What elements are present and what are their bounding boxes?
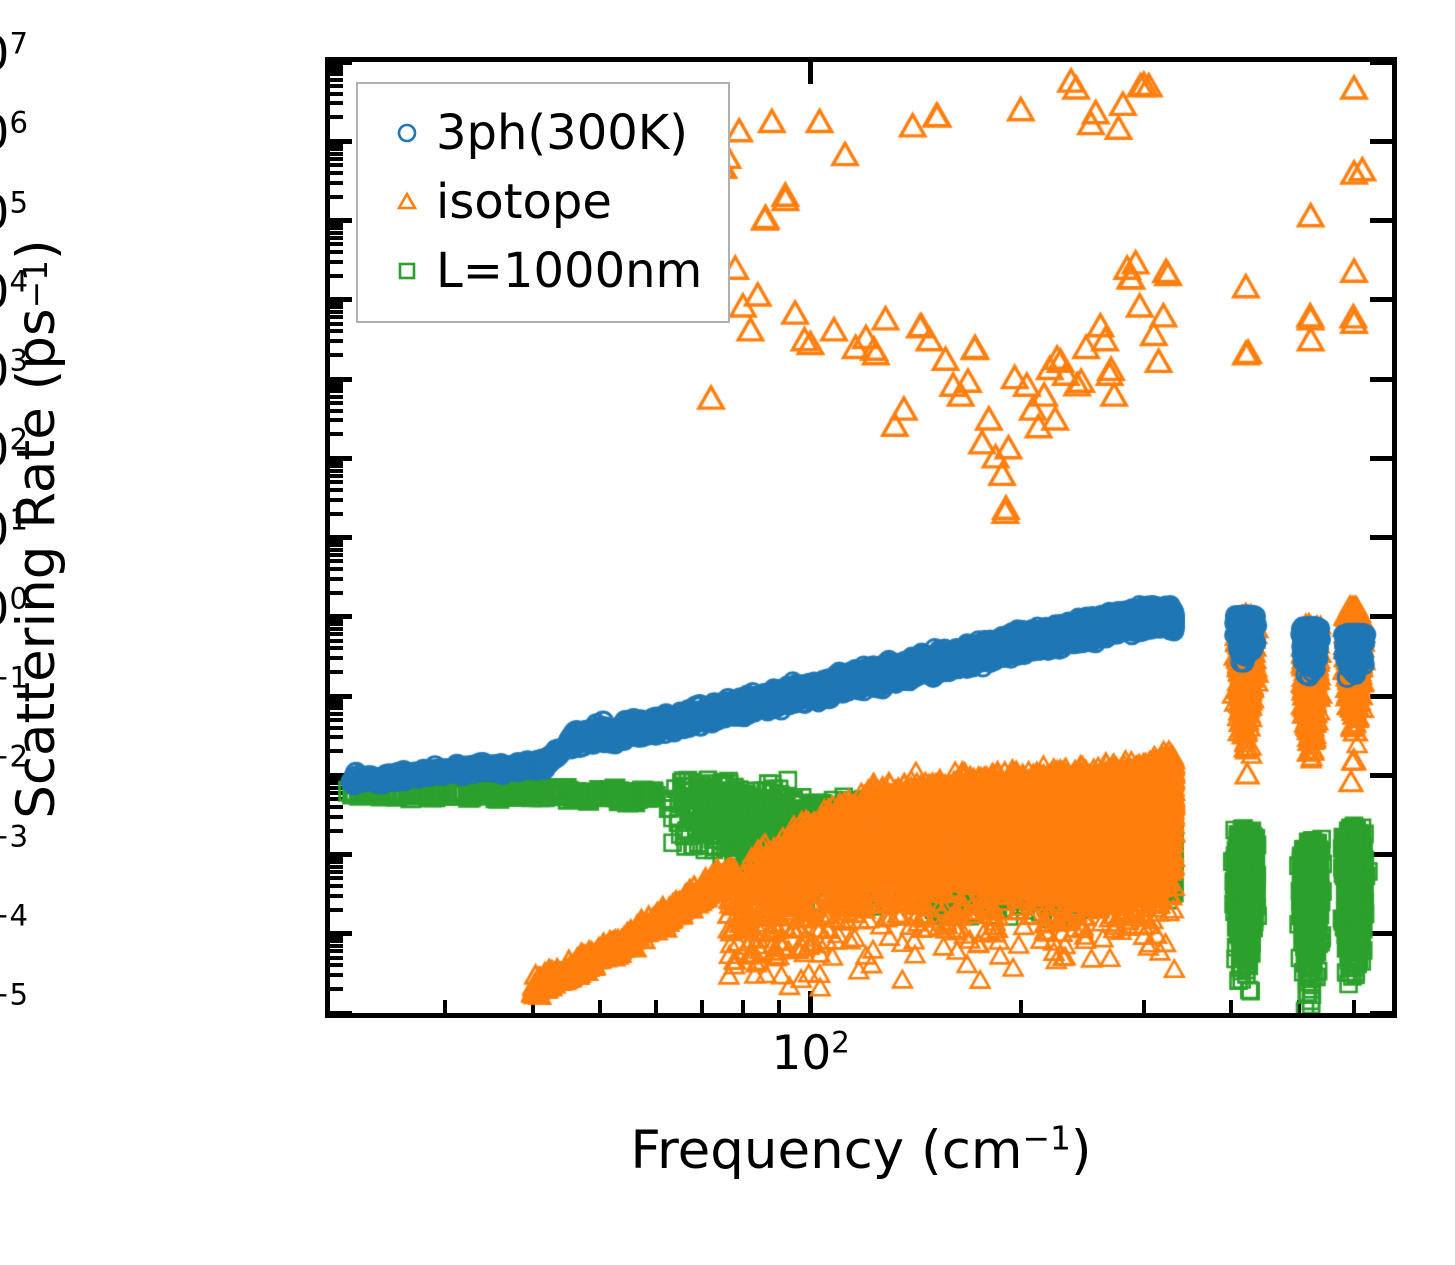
y-tick-label: 107 (0, 31, 28, 78)
y-tick-label: 104 (0, 269, 28, 316)
legend-label: 3ph(300K) (436, 109, 688, 157)
legend: 3ph(300K)isotopeL=1000nm (356, 82, 730, 323)
triangle-marker-icon (378, 189, 436, 215)
legend-label: isotope (436, 178, 612, 226)
y-tick-label: 105 (0, 190, 28, 237)
circle-marker-icon (378, 120, 436, 146)
legend-entry-isotope[interactable]: isotope (378, 167, 702, 236)
y-tick-label: 10−3 (0, 824, 28, 871)
y-tick-label: 10−5 (0, 982, 28, 1029)
x-tick-label: 102 (771, 1030, 849, 1077)
y-tick-label: 10−1 (0, 665, 28, 712)
x-axis-title-text: Frequency (cm (630, 1120, 1022, 1181)
y-tick-label: 10−4 (0, 903, 28, 950)
y-axis-title-tail: ) (6, 239, 67, 260)
y-tick-label: 103 (0, 348, 28, 395)
x-axis-title: Frequency (cm−1) (325, 1120, 1397, 1181)
legend-entry-l-1000nm[interactable]: L=1000nm (378, 236, 702, 305)
legend-entry-3ph-300k[interactable]: 3ph(300K) (378, 98, 702, 167)
legend-label: L=1000nm (436, 247, 702, 295)
y-tick-label: 10−2 (0, 744, 28, 791)
y-tick-label: 100 (0, 586, 28, 633)
square-marker-icon (378, 258, 436, 284)
x-axis-title-exponent: −1 (1022, 1118, 1070, 1157)
y-tick-label: 102 (0, 427, 28, 474)
y-tick-label: 101 (0, 507, 28, 554)
y-tick-label: 106 (0, 110, 28, 157)
x-axis-title-tail: ) (1071, 1120, 1092, 1181)
figure-root: Scattering Rate (ps−1) Frequency (cm−1) … (0, 0, 1455, 1265)
